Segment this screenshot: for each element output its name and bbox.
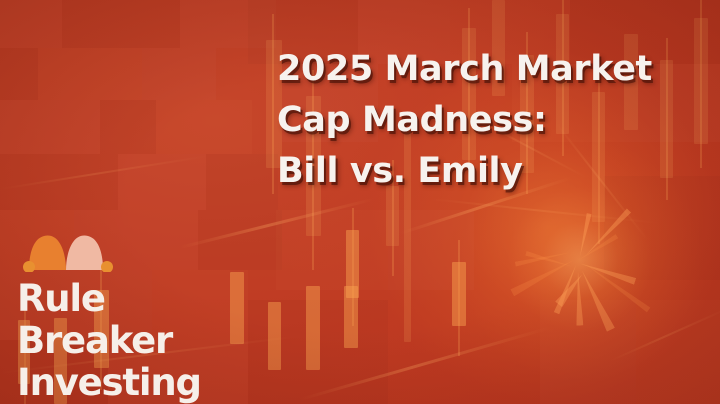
mosaic-tile [0, 154, 118, 210]
logo-text-line-1: Rule [17, 278, 247, 320]
mosaic-tile [248, 300, 388, 404]
mosaic-tile [276, 210, 388, 290]
mosaic-tile [180, 0, 276, 48]
burst-shard [578, 269, 615, 332]
logo-text-line-3: Investing [17, 362, 247, 404]
candlestick-body [344, 286, 358, 348]
mosaic-tile [0, 0, 62, 48]
candlestick-wick [352, 208, 354, 326]
candlestick-body [306, 286, 320, 370]
candlestick-wick [272, 14, 274, 194]
title-line-2: Cap Madness: [277, 95, 697, 146]
title-block: 2025 March Market Cap Madness: Bill vs. … [277, 44, 697, 197]
background-streak [0, 155, 208, 190]
mosaic-tile [100, 100, 156, 154]
video-thumbnail: 2025 March Market Cap Madness: Bill vs. … [0, 0, 720, 404]
mosaic-tile [0, 48, 38, 100]
title-line-3: Bill vs. Emily [277, 146, 697, 197]
burst-shard [554, 264, 579, 314]
logo-text-line-2: Breaker [17, 320, 247, 362]
jester-hat-svg [19, 226, 117, 272]
burst-shard [578, 213, 592, 257]
mosaic-tile [206, 154, 278, 210]
mosaic-tile [62, 0, 180, 48]
mosaic-tile [142, 48, 216, 100]
title-line-1: 2025 March Market [277, 44, 697, 95]
mosaic-tile [0, 100, 100, 154]
mosaic-tile [118, 154, 206, 210]
candlestick-body [346, 230, 359, 298]
mosaic-tile [156, 100, 252, 154]
brand-logo: Rule Breaker Investing [17, 226, 247, 404]
mosaic-tile [38, 48, 142, 100]
jester-hat-icon [19, 226, 117, 272]
candlestick-body [268, 302, 281, 370]
